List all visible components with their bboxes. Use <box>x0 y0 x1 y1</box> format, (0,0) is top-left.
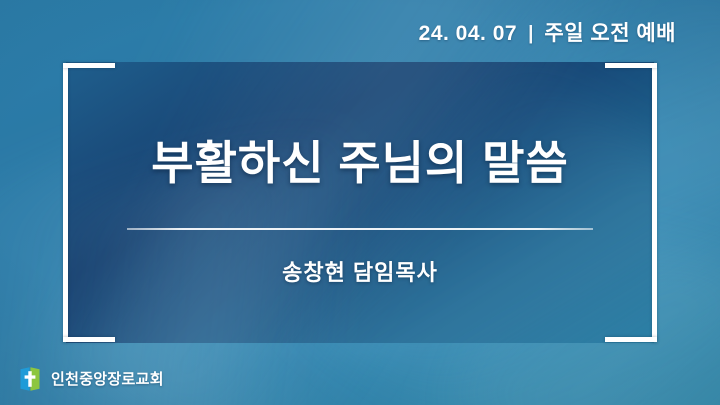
speaker-name: 송창현 담임목사 <box>282 262 438 284</box>
service-name: 주일 오전 예배 <box>544 23 676 44</box>
slide-header: 24. 04. 07 | 주일 오전 예배 <box>419 23 676 44</box>
title-content: 부활하신 주님의 말씀 송창현 담임목사 <box>68 62 652 343</box>
church-logo: 인천중앙장로교회 <box>18 366 164 392</box>
header-separator: | <box>528 24 533 43</box>
open-door-cross-icon <box>18 366 42 392</box>
church-name: 인천중앙장로교회 <box>51 372 164 387</box>
title-divider <box>127 228 593 230</box>
sermon-title-slide: 24. 04. 07 | 주일 오전 예배 부활하신 주님의 말씀 송창현 담임… <box>0 0 720 405</box>
service-date: 24. 04. 07 <box>419 23 517 44</box>
sermon-title: 부활하신 주님의 말씀 <box>151 137 568 190</box>
